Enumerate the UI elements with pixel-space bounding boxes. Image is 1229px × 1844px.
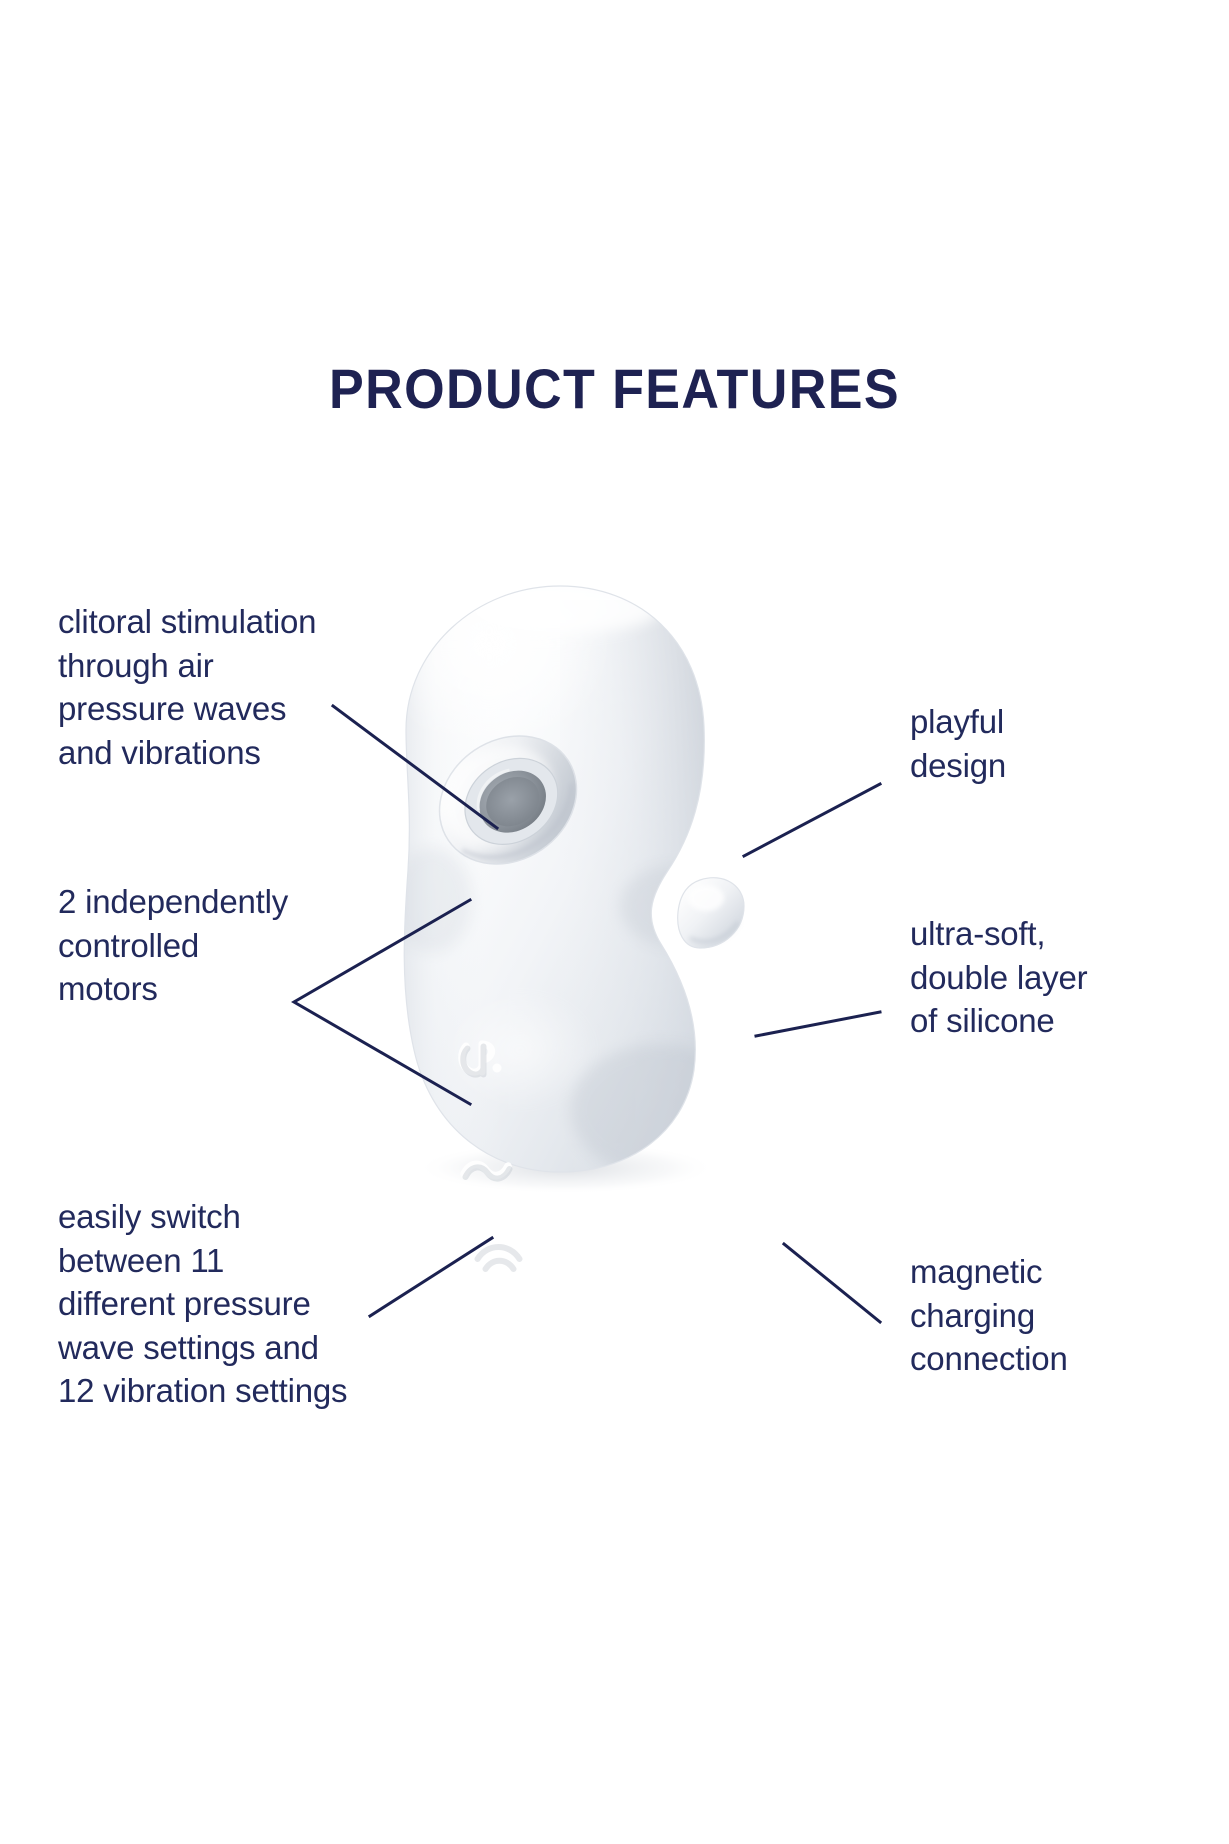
silicone-nub (678, 878, 744, 948)
feature-diagram-canvas: PRODUCT FEATURES (0, 0, 1229, 1844)
feature-label-double-layer-silicone: ultra-soft, double layer of silicone (910, 912, 1210, 1043)
feature-label-magnetic-charging: magnetic charging connection (910, 1250, 1210, 1381)
feature-label-pressure-wave-settings: easily switch between 11 different press… (58, 1195, 458, 1413)
leader-playful-design (744, 784, 880, 856)
feature-label-playful-design: playful design (910, 700, 1200, 787)
power-icon (476, 1244, 520, 1279)
leader-silicone (756, 1012, 880, 1036)
feature-label-clitoral-stimulation: clitoral stimulation through air pressur… (58, 600, 418, 774)
feature-label-two-motors: 2 independently controlled motors (58, 880, 438, 1011)
leader-magnetic-charging (784, 1244, 880, 1322)
